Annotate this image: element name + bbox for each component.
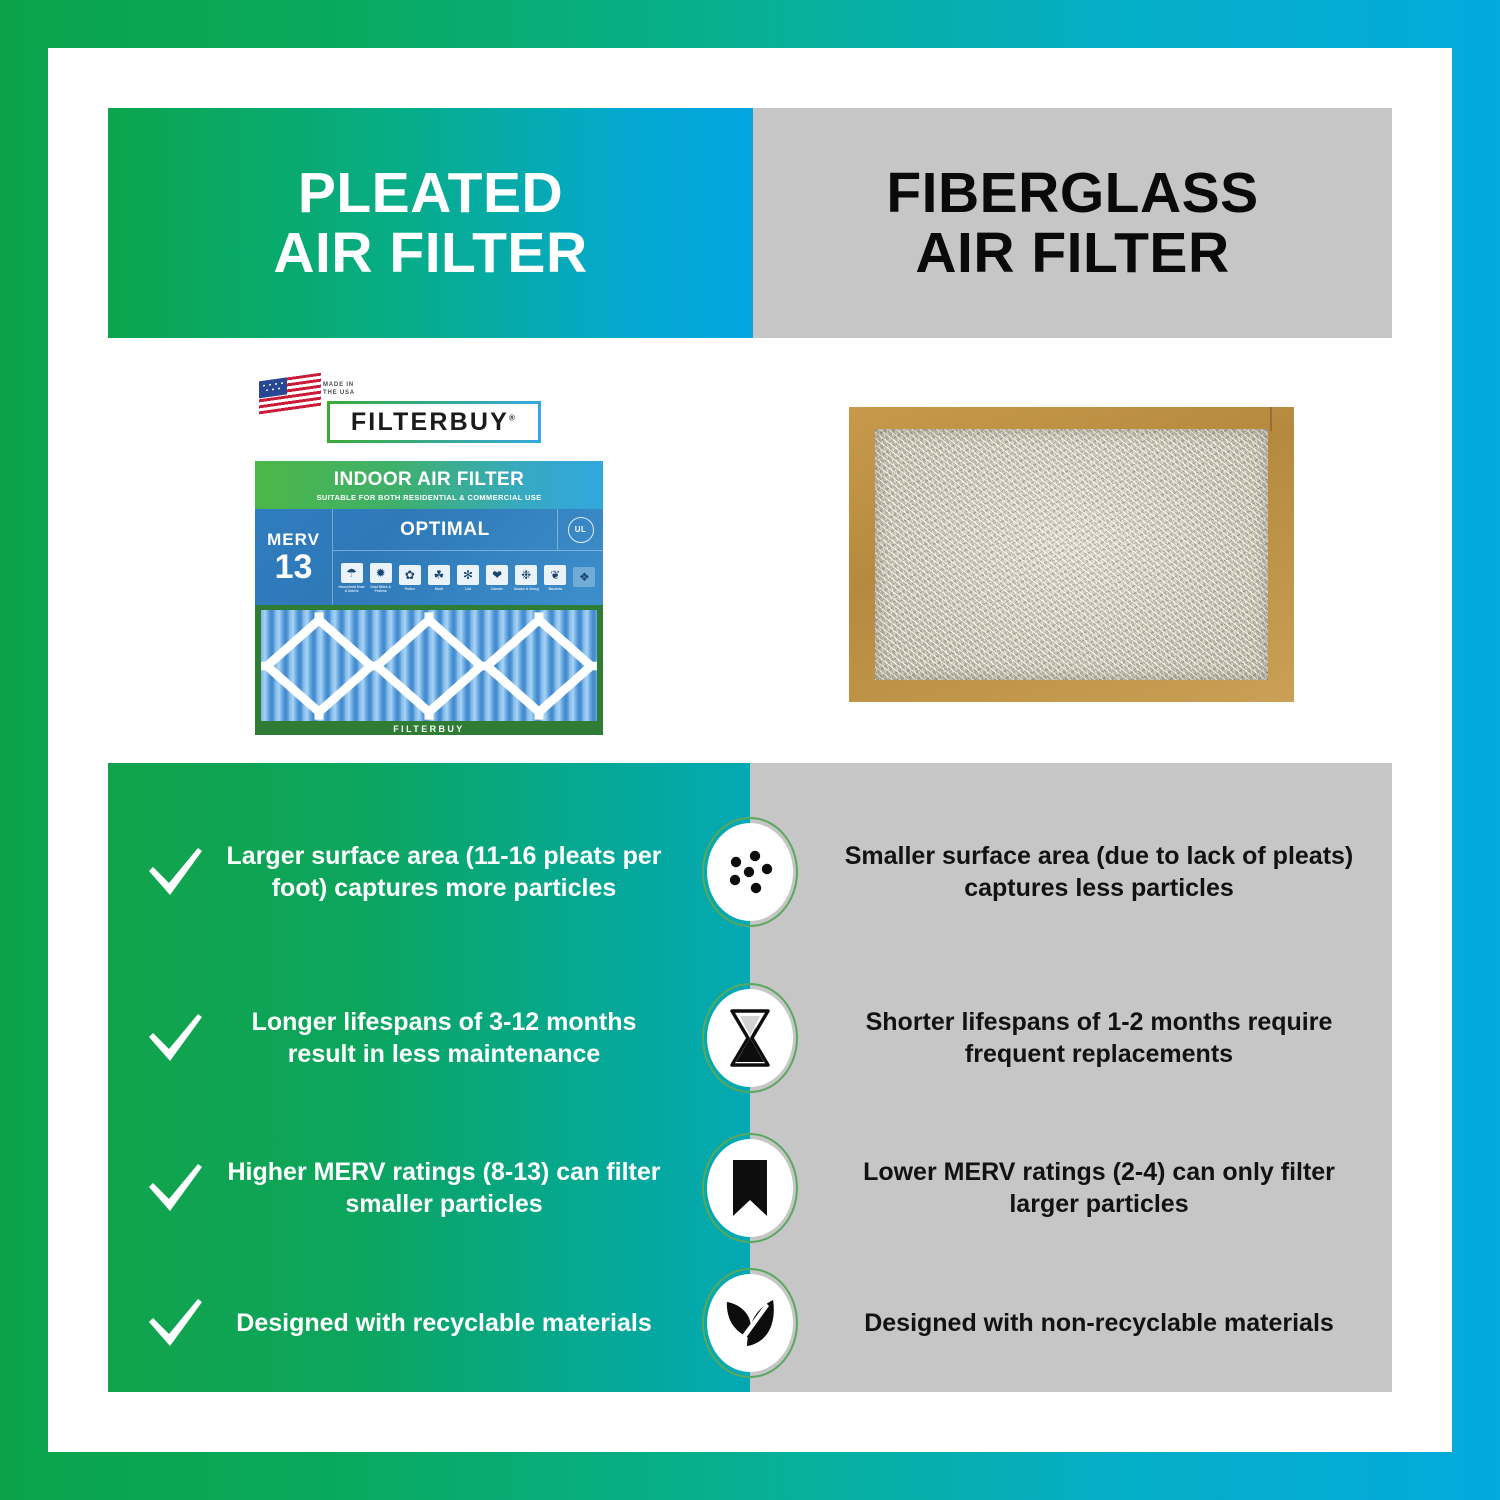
comparison-right-text: Shorter lifespans of 1-2 months require …	[750, 1006, 1392, 1070]
pleat-media-area: FILTERBUY	[255, 605, 603, 735]
feature-caption: Bacteria	[542, 587, 568, 591]
comparison-right-text: Lower MERV ratings (2-4) can only filter…	[750, 1156, 1392, 1220]
feature-icon-lint: ✻ Lint	[455, 565, 481, 591]
diamond-support-grid	[261, 610, 597, 721]
merv-panel-right: OPTIMAL UL ☂ Household Dust & Debris	[333, 509, 603, 605]
badge-disc	[707, 1139, 793, 1237]
band-line2: SUITABLE FOR BOTH RESIDENTIAL & COMMERCI…	[255, 493, 603, 502]
feature-icon-mold: ☘ Mold	[426, 565, 452, 591]
smoke-icon: ❉	[515, 565, 537, 585]
comparison-row-left: Longer lifespans of 3-12 months result i…	[108, 1005, 750, 1071]
header-pleated-line1: PLEATED	[273, 163, 587, 223]
header-fiberglass: FIBERGLASS AIR FILTER	[753, 108, 1392, 338]
check-icon	[142, 839, 208, 905]
feature-icon-household-dust: ☂ Household Dust & Debris	[339, 563, 365, 593]
hourglass-icon	[726, 1007, 774, 1069]
badge-disc	[707, 823, 793, 921]
fiberglass-filter-image-cell	[750, 348, 1392, 760]
merv-panel: MERV 13 OPTIMAL UL	[255, 509, 603, 605]
dander-icon: ❤	[486, 565, 508, 585]
comparison-left-text: Longer lifespans of 3-12 months result i…	[216, 1006, 672, 1070]
feature-icon-row: ☂ Household Dust & Debris ✹ Dust Mites &…	[333, 551, 603, 605]
made-in-line1: MADE IN	[323, 381, 355, 389]
filterbuy-box-top: MADE IN THE USA FILTERBUY®	[255, 373, 603, 461]
check-icon	[142, 1005, 208, 1071]
particles-icon	[719, 844, 781, 900]
row-badge-leaf	[702, 1268, 798, 1378]
fiberglass-filter-image	[849, 407, 1294, 702]
mold-icon: ☘	[428, 565, 450, 585]
comparison-section: Larger surface area (11-16 pleats per fo…	[108, 763, 1392, 1392]
dust-mites-icon: ✹	[370, 563, 392, 583]
pleated-filter-image-cell: MADE IN THE USA FILTERBUY® INDOOR AIR FI…	[108, 348, 750, 760]
fiberglass-mesh	[875, 429, 1268, 680]
comparison-left-text: Higher MERV ratings (8-13) can filter sm…	[216, 1156, 672, 1220]
feature-caption: Household Dust & Debris	[339, 585, 365, 594]
tier-label: OPTIMAL	[333, 519, 557, 541]
product-images-band: MADE IN THE USA FILTERBUY® INDOOR AIR FI…	[108, 348, 1392, 760]
comparison-right-text: Smaller surface area (due to lack of ple…	[750, 840, 1392, 904]
header-fiberglass-line1: FIBERGLASS	[886, 163, 1258, 223]
household-dust-icon: ☂	[341, 563, 363, 583]
header-row: PLEATED AIR FILTER FIBERGLASS AIR FILTER	[108, 108, 1392, 338]
merv-value: 13	[275, 550, 313, 584]
extra-icon: ❖	[573, 567, 595, 587]
comparison-left-text: Larger surface area (11-16 pleats per fo…	[216, 840, 672, 904]
badge-disc	[707, 989, 793, 1087]
comparison-row-left: Larger surface area (11-16 pleats per fo…	[108, 839, 750, 905]
lint-icon: ✻	[457, 565, 479, 585]
feature-icon-extra: ❖	[571, 567, 597, 589]
feature-icon-pollen: ✿ Pollen	[397, 565, 423, 591]
tier-row: OPTIMAL UL	[333, 509, 603, 551]
merv-badge: MERV 13	[255, 509, 333, 605]
row-badge-bookmark	[702, 1133, 798, 1243]
badge-disc	[707, 1274, 793, 1372]
leaf-icon	[719, 1294, 781, 1352]
feature-caption: Lint	[455, 587, 481, 591]
filterbuy-box-image: MADE IN THE USA FILTERBUY® INDOOR AIR FI…	[255, 373, 603, 735]
comparison-right-text: Designed with non-recyclable materials	[750, 1307, 1392, 1339]
feature-icon-dander: ❤ Dander	[484, 565, 510, 591]
header-fiberglass-line2: AIR FILTER	[886, 223, 1258, 283]
header-pleated: PLEATED AIR FILTER	[108, 108, 753, 338]
feature-caption: Pollen	[397, 587, 423, 591]
row-badge-hourglass	[702, 983, 798, 1093]
band-line1: INDOOR AIR FILTER	[255, 469, 603, 491]
feature-icon-smoke: ❉ Smoke & Smog	[513, 565, 539, 591]
comparison-left-text: Designed with recyclable materials	[216, 1307, 672, 1339]
white-canvas: PLEATED AIR FILTER FIBERGLASS AIR FILTER	[48, 48, 1452, 1452]
feature-caption: Dust Mites & Pollens	[368, 585, 394, 594]
filterbuy-brand-text: FILTERBUY	[351, 408, 509, 436]
row-badge-particles	[702, 817, 798, 927]
indoor-air-filter-band: INDOOR AIR FILTER SUITABLE FOR BOTH RESI…	[255, 461, 603, 509]
feature-caption: Dander	[484, 587, 510, 591]
usa-flag-icon	[259, 373, 321, 415]
pollen-icon: ✿	[399, 565, 421, 585]
made-in-line2: THE USA	[323, 389, 355, 397]
ul-cert-cell: UL	[557, 509, 603, 550]
bacteria-icon: ❦	[544, 565, 566, 585]
comparison-row-left: Higher MERV ratings (8-13) can filter sm…	[108, 1155, 750, 1221]
merv-label: MERV	[267, 530, 320, 550]
feature-icon-bacteria: ❦ Bacteria	[542, 565, 568, 591]
header-pleated-line2: AIR FILTER	[273, 223, 587, 283]
feature-icon-dust-mites: ✹ Dust Mites & Pollens	[368, 563, 394, 593]
check-icon	[142, 1290, 208, 1356]
registered-mark: ®	[509, 413, 517, 422]
pleat-media	[261, 610, 597, 721]
comparison-row-left: Designed with recyclable materials	[108, 1290, 750, 1356]
bookmark-icon	[729, 1158, 771, 1218]
filterbuy-logo: FILTERBUY®	[327, 401, 541, 443]
feature-caption: Smoke & Smog	[513, 587, 539, 591]
made-in-usa-text: MADE IN THE USA	[323, 381, 355, 397]
filterbuy-footer-brand: FILTERBUY	[255, 724, 603, 734]
check-icon	[142, 1155, 208, 1221]
feature-caption: Mold	[426, 587, 452, 591]
infographic-page: PLEATED AIR FILTER FIBERGLASS AIR FILTER	[0, 0, 1500, 1500]
ul-certification-icon: UL	[568, 517, 594, 543]
